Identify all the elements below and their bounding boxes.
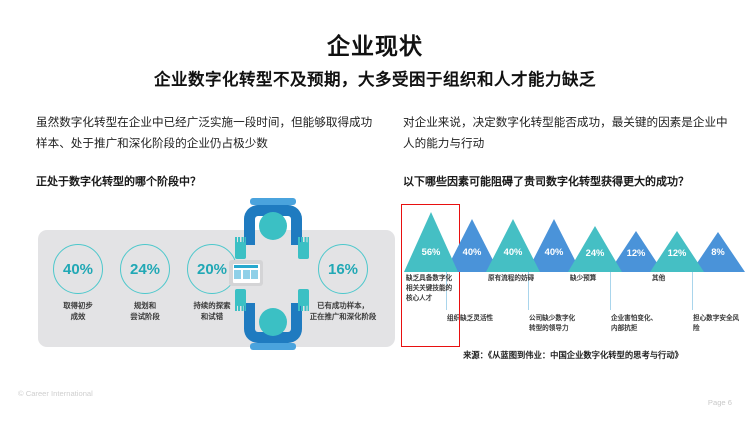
triangle-bar: 12% (650, 231, 704, 272)
source-note: 来源：《从蓝图到伟业：中国企业数字化转型的思考与行动》 (403, 349, 743, 361)
category-label: 企业害怕变化、内部抗拒 (611, 314, 663, 334)
figure-hand-left (235, 289, 246, 306)
category-label: 原有流程的妨碍 (488, 274, 540, 284)
stat-value: 20% (197, 262, 227, 277)
person-figure-bottom-icon (228, 284, 318, 350)
triangle-bar: 40% (486, 219, 540, 272)
stat-value: 16% (328, 262, 358, 277)
triangle-bar: 24% (568, 226, 622, 272)
stat-ring: 40% (53, 244, 103, 294)
right-question: 以下哪些因素可能阻碍了贵司数字化转型获得更大的成功？ (403, 173, 733, 189)
category-label: 其他 (652, 274, 704, 284)
triangle-series: 56%40%40%40%24%12%12%8% (403, 210, 743, 272)
right-column: 对企业来说，决定数字化转型能否成功，最关键的因素是企业中人的能力与行动 以下哪些… (403, 112, 733, 200)
tablet-screen-tiles (234, 270, 258, 279)
figure-hand-right (298, 242, 309, 259)
figure-bar (250, 343, 296, 350)
tablet-screen (233, 264, 260, 283)
left-stats-group: 40% 取得初步 成效 24% 规划和 尝试阶段 20% 持续的探索 和试错 1… (38, 230, 395, 347)
page-title: 企业现状 (0, 27, 750, 61)
figure-hand-right (298, 289, 309, 306)
right-lead-text: 对企业来说，决定数字化转型能否成功，最关键的因素是企业中人的能力与行动 (403, 112, 733, 155)
figure-bar (250, 198, 296, 205)
copyright-text: © Career International (18, 389, 93, 398)
triangle-value-label: 24% (568, 247, 622, 258)
figure-head (259, 308, 287, 336)
stat-ring: 24% (120, 244, 170, 294)
left-question: 正处于数字化转型的哪个阶段中？ (36, 173, 376, 189)
stat-value: 40% (63, 262, 93, 277)
triangle-value-label: 40% (486, 246, 540, 257)
triangle-value-label: 56% (404, 246, 458, 257)
left-column: 虽然数字化转型在企业中已经广泛实施一段时间，但能够取得成功样本、处于推广和深化阶… (36, 112, 376, 200)
stat-ring: 16% (318, 244, 368, 294)
page-number: Page 6 (708, 398, 732, 407)
person-figure-top-icon (228, 198, 318, 264)
tablet-icon (229, 260, 263, 286)
left-lead-text: 虽然数字化转型在企业中已经广泛实施一段时间，但能够取得成功样本、处于推广和深化阶… (36, 112, 376, 155)
category-label: 缺少预算 (570, 274, 622, 284)
triangle-bar: 56% (404, 212, 458, 272)
figure-head (259, 212, 287, 240)
category-label: 公司缺少数字化转型的领导力 (529, 314, 581, 334)
category-label: 担心数字安全风险 (693, 314, 745, 334)
triangle-value-label: 12% (650, 247, 704, 258)
stat-value: 24% (130, 262, 160, 277)
people-illustration (228, 198, 318, 350)
page-subtitle: 企业数字化转型不及预期，大多受困于组织和人才能力缺乏 (0, 66, 750, 90)
tablet-screen-header (234, 265, 258, 268)
figure-hand-left (235, 242, 246, 259)
slide-canvas: 企业现状 企业数字化转型不及预期，大多受困于组织和人才能力缺乏 虽然数字化转型在… (0, 0, 750, 422)
